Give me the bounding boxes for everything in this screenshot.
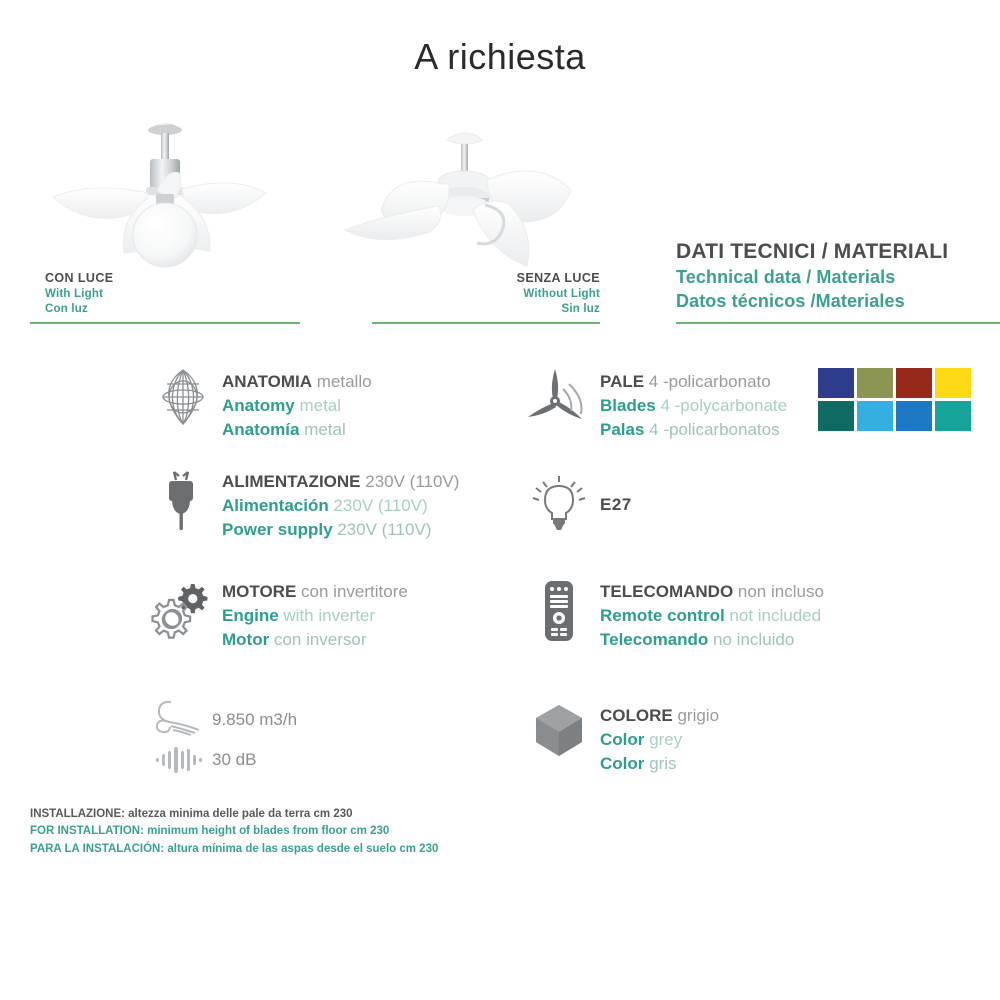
bulb-value: E27: [600, 493, 632, 516]
caption-without-light: SENZA LUCE Without Light Sin luz: [410, 270, 600, 317]
caption-es: Sin luz: [410, 302, 600, 317]
product-spec-sheet: A richiesta: [0, 0, 1000, 1000]
caption-en: Without Light: [410, 287, 600, 302]
spec-row-color: COLORE grigio Color grey Color gris: [524, 700, 719, 776]
power-it: ALIMENTAZIONE 230V (110V): [222, 470, 459, 494]
swatch-light-blue: [857, 401, 893, 431]
airflow-icon: [152, 698, 208, 742]
blades-es: Palas 4 -policarbonatos: [600, 418, 787, 442]
swatch-yellow: [935, 368, 971, 398]
spec-row-remote: TELECOMANDO non incluso Remote control n…: [524, 578, 824, 652]
anatomy-es: Anatomía metal: [222, 418, 372, 442]
installation-note: INSTALLAZIONE: altezza minima delle pale…: [30, 806, 438, 858]
power-es: Power supply 230V (110V): [222, 518, 459, 542]
light-bulb-icon: [524, 472, 594, 538]
caption-it: SENZA LUCE: [410, 270, 600, 287]
swatch-medium-blue: [896, 401, 932, 431]
remote-en: Remote control not included: [600, 604, 824, 628]
engine-it: MOTORE con invertitore: [222, 580, 408, 604]
blades-en: Blades 4 -polycarbonate: [600, 394, 787, 418]
power-plug-icon: [152, 468, 214, 534]
installation-note-en: FOR INSTALLATION: minimum height of blad…: [30, 823, 438, 840]
swatch-teal-green: [818, 401, 854, 431]
fan-blades-icon: [524, 366, 594, 430]
remote-control-icon: [524, 578, 594, 644]
caption-es: Con luz: [45, 302, 113, 317]
caption-en: With Light: [45, 287, 113, 302]
tech-header-es: Datos técnicos /Materiales: [676, 290, 948, 314]
color-swatch-grid: [818, 368, 971, 431]
color-it: COLORE grigio: [600, 704, 719, 728]
spec-row-anatomy: ANATOMIA metallo Anatomy metal Anatomía …: [152, 366, 372, 442]
fan-with-light-image: [30, 95, 320, 270]
airflow-value: 9.850 m3/h: [212, 708, 297, 731]
installation-note-it: INSTALLAZIONE: altezza minima delle pale…: [30, 806, 438, 823]
spec-row-power-supply: ALIMENTAZIONE 230V (110V) Alimentación 2…: [152, 468, 459, 542]
divider-tech-header: [676, 322, 1000, 324]
spec-row-engine: MOTORE con invertitore Engine with inver…: [146, 578, 408, 652]
remote-es: Telecomando no incluido: [600, 628, 824, 652]
swatch-teal: [935, 401, 971, 431]
spec-row-noise: 30 dB: [152, 742, 256, 778]
swatch-dark-blue: [818, 368, 854, 398]
power-en: Alimentación 230V (110V): [222, 494, 459, 518]
anatomy-it: ANATOMIA metallo: [222, 370, 372, 394]
color-en: Color grey: [600, 728, 719, 752]
noise-value: 30 dB: [212, 748, 256, 771]
tech-header-en: Technical data / Materials: [676, 266, 948, 290]
spec-row-airflow: 9.850 m3/h: [152, 698, 297, 742]
remote-it: TELECOMANDO non incluso: [600, 580, 824, 604]
tech-header-it: DATI TECNICI / MATERIALI: [676, 238, 948, 266]
installation-note-es: PARA LA INSTALACIÓN: altura mínima de la…: [30, 841, 438, 858]
swatch-olive-green: [857, 368, 893, 398]
lattice-sphere-icon: [152, 366, 214, 428]
divider-with-light: [30, 322, 300, 324]
blades-it: PALE 4 -policarbonato: [600, 370, 787, 394]
spec-row-blades: PALE 4 -policarbonato Blades 4 -polycarb…: [524, 366, 787, 442]
page-title: A richiesta: [0, 36, 1000, 78]
fan-without-light-image: [335, 110, 625, 275]
tech-data-header: DATI TECNICI / MATERIALI Technical data …: [676, 238, 948, 314]
gears-icon: [146, 578, 214, 644]
anatomy-en: Anatomy metal: [222, 394, 372, 418]
divider-without-light: [372, 322, 600, 324]
spec-row-bulb: E27: [524, 472, 632, 538]
caption-it: CON LUCE: [45, 270, 113, 287]
engine-es: Motor con inversor: [222, 628, 408, 652]
color-es: Color gris: [600, 752, 719, 776]
sound-wave-icon: [152, 742, 208, 778]
engine-en: Engine with inverter: [222, 604, 408, 628]
caption-with-light: CON LUCE With Light Con luz: [45, 270, 113, 317]
gem-color-icon: [524, 700, 594, 762]
swatch-dark-red: [896, 368, 932, 398]
